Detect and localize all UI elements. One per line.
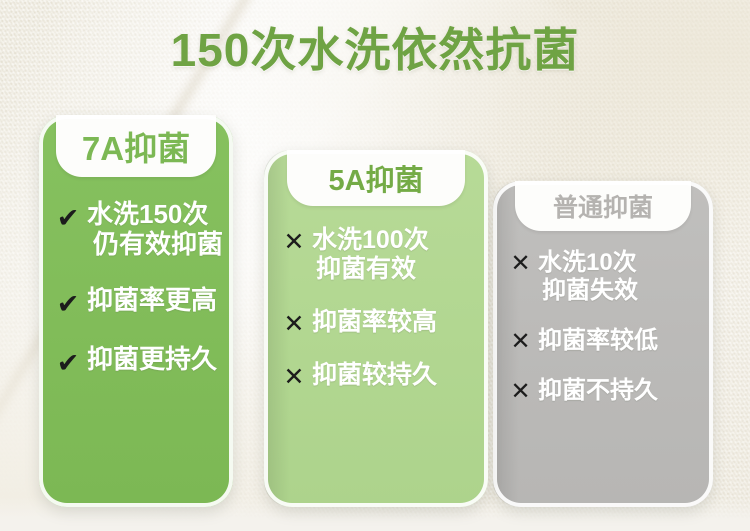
page-title: 150次水洗依然抗菌 bbox=[0, 22, 750, 78]
feature-label: 抑菌较持久 bbox=[312, 361, 437, 390]
card-badge-ordinary: 普通抑菌 bbox=[515, 181, 691, 231]
feature-label: 抑菌率较高 bbox=[312, 308, 437, 337]
feature-item: ✕ 抑菌率较低 bbox=[493, 327, 713, 355]
cross-icon: ✕ bbox=[280, 230, 308, 255]
feature-item: ✕ 水洗100次 抑菌有效 bbox=[264, 226, 488, 284]
comparison-card-7a: 7A抑菌 ✔ 水洗150次 仍有效抑菌 ✔ 抑菌率更高 ✔ 抑菌更持久 bbox=[39, 115, 233, 507]
feature-line-2: 抑菌有效 bbox=[316, 255, 429, 284]
feature-list-ordinary: ✕ 水洗10次 抑菌失效 ✕ 抑菌率较低 ✕ 抑菌不持久 bbox=[493, 249, 713, 427]
feature-item: ✔ 水洗150次 仍有效抑菌 bbox=[39, 199, 233, 259]
feature-label: 抑菌率更高 bbox=[87, 285, 217, 315]
feature-line-1: 水洗10次 bbox=[538, 249, 637, 276]
feature-list-7a: ✔ 水洗150次 仍有效抑菌 ✔ 抑菌率更高 ✔ 抑菌更持久 bbox=[39, 199, 233, 403]
feature-item: ✔ 抑菌更持久 bbox=[39, 344, 233, 377]
feature-line-1: 水洗150次 bbox=[87, 199, 208, 229]
card-badge-7a: 7A抑菌 bbox=[56, 115, 216, 177]
check-icon: ✔ bbox=[53, 205, 83, 232]
feature-label: 抑菌更持久 bbox=[87, 344, 217, 374]
feature-item: ✕ 水洗10次 抑菌失效 bbox=[493, 249, 713, 305]
cross-icon: ✕ bbox=[507, 330, 534, 354]
promo-banner: 150次水洗依然抗菌 7A抑菌 ✔ 水洗150次 仍有效抑菌 ✔ 抑菌率更高 ✔… bbox=[0, 0, 750, 531]
comparison-card-5a: 5A抑菌 ✕ 水洗100次 抑菌有效 ✕ 抑菌率较高 ✕ 抑菌较持久 bbox=[264, 150, 488, 507]
feature-item: ✕ 抑菌率较高 bbox=[264, 308, 488, 337]
feature-line-2: 抑菌失效 bbox=[542, 277, 638, 305]
cross-icon: ✕ bbox=[507, 380, 534, 404]
feature-list-5a: ✕ 水洗100次 抑菌有效 ✕ 抑菌率较高 ✕ 抑菌较持久 bbox=[264, 226, 488, 414]
feature-label: 抑菌不持久 bbox=[538, 377, 658, 405]
card-badge-5a: 5A抑菌 bbox=[287, 150, 465, 206]
feature-item: ✕ 抑菌较持久 bbox=[264, 361, 488, 390]
feature-line-1: 水洗100次 bbox=[312, 226, 429, 254]
cross-icon: ✕ bbox=[280, 312, 308, 337]
feature-item: ✔ 抑菌率更高 bbox=[39, 285, 233, 318]
comparison-card-ordinary: 普通抑菌 ✕ 水洗10次 抑菌失效 ✕ 抑菌率较低 ✕ 抑菌不持久 bbox=[493, 181, 713, 507]
cross-icon: ✕ bbox=[280, 365, 308, 390]
feature-label: 水洗150次 仍有效抑菌 bbox=[87, 199, 223, 259]
check-icon: ✔ bbox=[53, 291, 83, 318]
check-icon: ✔ bbox=[53, 350, 83, 377]
feature-label: 水洗10次 抑菌失效 bbox=[538, 249, 638, 305]
feature-label: 抑菌率较低 bbox=[538, 327, 658, 355]
cross-icon: ✕ bbox=[507, 252, 534, 276]
feature-label: 水洗100次 抑菌有效 bbox=[312, 226, 429, 284]
feature-item: ✕ 抑菌不持久 bbox=[493, 377, 713, 405]
feature-line-2: 仍有效抑菌 bbox=[93, 229, 223, 259]
